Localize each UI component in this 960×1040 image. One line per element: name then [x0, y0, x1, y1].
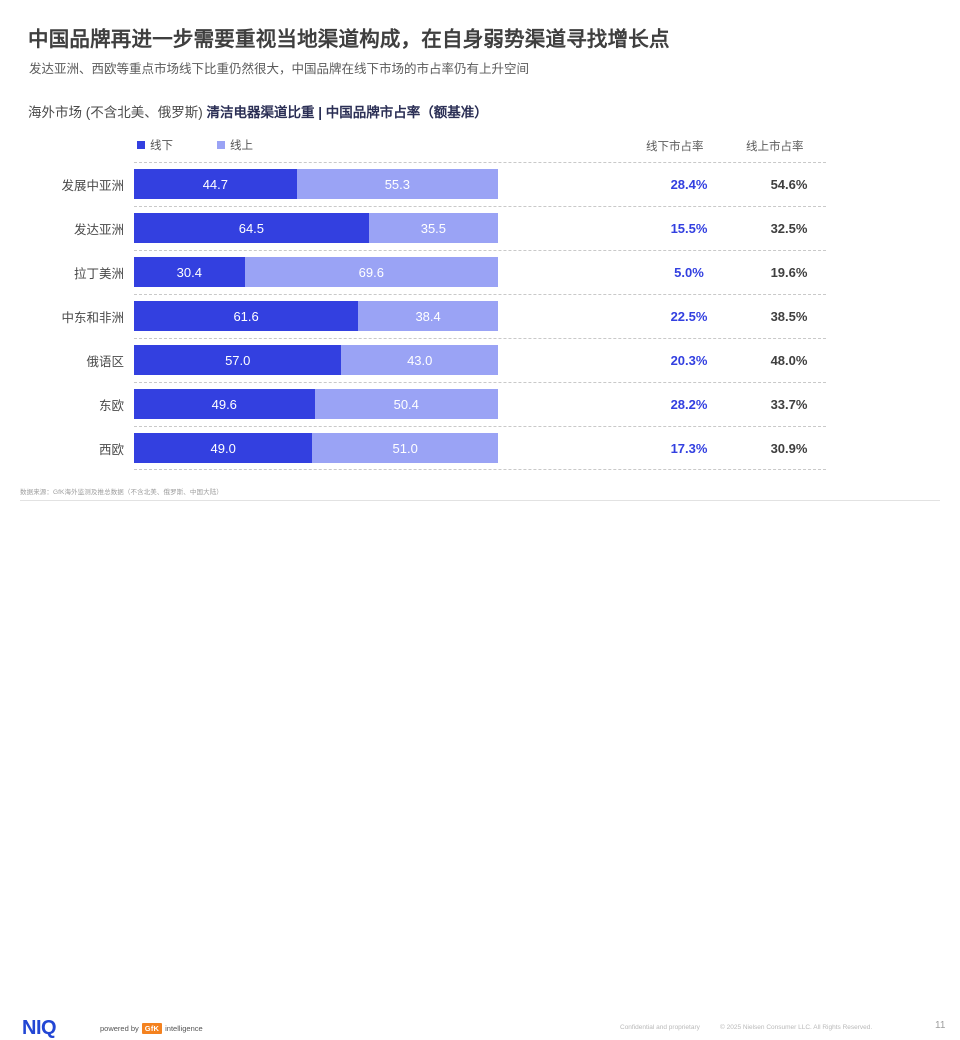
bar-segment-online[interactable]: 69.6	[245, 257, 498, 287]
bar-segment-offline[interactable]: 44.7	[134, 169, 297, 199]
column-header-offline-share: 线下市占率	[646, 138, 704, 154]
bar-segment-offline[interactable]: 61.6	[134, 301, 358, 331]
stacked-bar[interactable]: 49.051.0	[134, 433, 498, 463]
online-share-value: 38.5%	[746, 294, 832, 338]
offline-share-value: 17.3%	[646, 426, 732, 470]
online-share-value: 30.9%	[746, 426, 832, 470]
online-share-value: 54.6%	[746, 162, 832, 206]
chart-row: 西欧49.051.017.3%30.9%	[28, 426, 932, 470]
source-footnote: 数据来源：GfK海外监测及推总数据（不含北美、俄罗斯、中国大陆）	[20, 486, 223, 496]
offline-share-value: 15.5%	[646, 206, 732, 250]
offline-share-value: 20.3%	[646, 338, 732, 382]
bar-segment-online[interactable]: 35.5	[369, 213, 498, 243]
bar-segment-offline[interactable]: 57.0	[134, 345, 341, 375]
powered-by-label: powered by	[100, 1024, 139, 1033]
niq-logo: NIQ	[22, 1017, 56, 1040]
copyright-notice: © 2025 Nielsen Consumer LLC. All Rights …	[720, 1024, 872, 1031]
legend-item-online[interactable]: 线上	[217, 137, 253, 153]
row-label: 拉丁美洲	[28, 250, 124, 294]
page-title: 中国品牌再进一步需要重视当地渠道构成，在自身弱势渠道寻找增长点	[28, 22, 928, 52]
chart-row: 东欧49.650.428.2%33.7%	[28, 382, 932, 426]
row-label: 发达亚洲	[28, 206, 124, 250]
footer: NIQ powered by GfK intelligence Confiden…	[0, 505, 960, 540]
chart-row: 中东和非洲61.638.422.5%38.5%	[28, 294, 932, 338]
stacked-bar[interactable]: 44.755.3	[134, 169, 498, 199]
chart-header-market: 海外市场 (不含北美、俄罗斯)	[28, 105, 207, 120]
bar-segment-offline[interactable]: 30.4	[134, 257, 245, 287]
footer-divider	[20, 500, 940, 501]
online-share-value: 48.0%	[746, 338, 832, 382]
legend-label-online: 线上	[230, 137, 253, 153]
intelligence-label: intelligence	[165, 1024, 203, 1033]
bar-segment-offline[interactable]: 49.0	[134, 433, 312, 463]
stacked-bar[interactable]: 57.043.0	[134, 345, 498, 375]
row-label: 东欧	[28, 382, 124, 426]
bar-segment-online[interactable]: 43.0	[341, 345, 498, 375]
chart-row: 发展中亚洲44.755.328.4%54.6%	[28, 162, 932, 206]
bar-segment-offline[interactable]: 64.5	[134, 213, 369, 243]
online-share-value: 32.5%	[746, 206, 832, 250]
chart-row: 拉丁美洲30.469.65.0%19.6%	[28, 250, 932, 294]
chart-row: 俄语区57.043.020.3%48.0%	[28, 338, 932, 382]
legend-swatch-offline	[137, 141, 145, 149]
chart-header: 海外市场 (不含北美、俄罗斯) 清洁电器渠道比重 | 中国品牌市占率（额基准）	[28, 101, 488, 121]
slide: 中国品牌再进一步需要重视当地渠道构成，在自身弱势渠道寻找增长点 发达亚洲、西欧等…	[0, 0, 960, 540]
chart-legend: 线下 线上	[137, 137, 253, 153]
gfk-badge: GfK	[142, 1023, 162, 1034]
chart-plot-area: 发展中亚洲44.755.328.4%54.6%发达亚洲64.535.515.5%…	[28, 162, 932, 470]
bar-segment-online[interactable]: 55.3	[297, 169, 498, 199]
row-label: 俄语区	[28, 338, 124, 382]
page-number: 11	[935, 1020, 945, 1031]
online-share-value: 19.6%	[746, 250, 832, 294]
stacked-bar[interactable]: 64.535.5	[134, 213, 498, 243]
legend-swatch-online	[217, 141, 225, 149]
row-label: 西欧	[28, 426, 124, 470]
offline-share-value: 5.0%	[646, 250, 732, 294]
offline-share-value: 28.4%	[646, 162, 732, 206]
bar-segment-online[interactable]: 50.4	[315, 389, 498, 419]
stacked-bar[interactable]: 61.638.4	[134, 301, 498, 331]
stacked-bar[interactable]: 30.469.6	[134, 257, 498, 287]
legend-item-offline[interactable]: 线下	[137, 137, 173, 153]
row-label: 中东和非洲	[28, 294, 124, 338]
legend-label-offline: 线下	[150, 137, 173, 153]
page-subtitle: 发达亚洲、西欧等重点市场线下比重仍然很大，中国品牌在线下市场的市占率仍有上升空间	[29, 58, 929, 77]
bar-segment-offline[interactable]: 49.6	[134, 389, 315, 419]
bar-segment-online[interactable]: 38.4	[358, 301, 498, 331]
powered-by-gfk: powered by GfK intelligence	[100, 1023, 203, 1034]
confidential-notice: Confidential and proprietary	[620, 1024, 700, 1031]
stacked-bar[interactable]: 49.650.4	[134, 389, 498, 419]
offline-share-value: 22.5%	[646, 294, 732, 338]
offline-share-value: 28.2%	[646, 382, 732, 426]
online-share-value: 33.7%	[746, 382, 832, 426]
chart-rows: 发展中亚洲44.755.328.4%54.6%发达亚洲64.535.515.5%…	[28, 162, 932, 470]
row-label: 发展中亚洲	[28, 162, 124, 206]
chart-header-metric: 清洁电器渠道比重 | 中国品牌市占率（额基准）	[207, 105, 488, 120]
column-header-online-share: 线上市占率	[746, 138, 804, 154]
chart-row: 发达亚洲64.535.515.5%32.5%	[28, 206, 932, 250]
bar-segment-online[interactable]: 51.0	[312, 433, 498, 463]
